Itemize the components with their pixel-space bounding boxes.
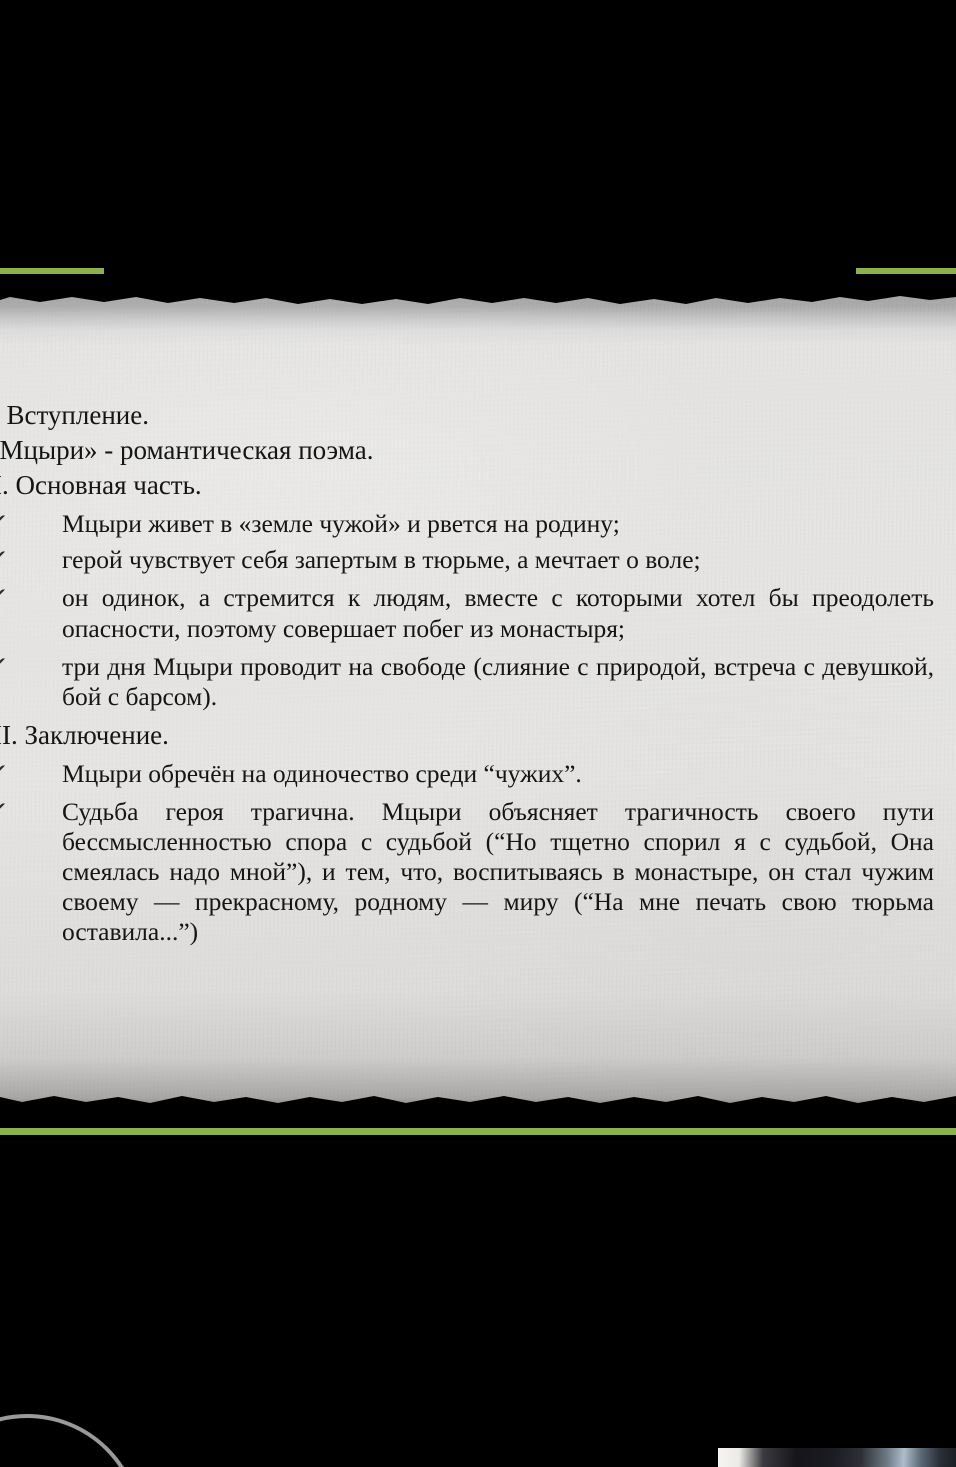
checkmark-icon: ✓ (0, 584, 10, 611)
outline-section-3: III. Заключение. (0, 718, 944, 753)
list-item: ✓ Судьба героя трагична. Мцыри объясняет… (0, 797, 944, 947)
list-item-label: он одинок, а стремится к людям, вместе с… (62, 583, 934, 642)
list-item: ✓ он одинок, а стремится к людям, вместе… (0, 583, 944, 643)
outline-section-1: I. Вступление. (0, 398, 944, 433)
list-item: ✓ три дня Мцыри проводит на свободе (сли… (0, 652, 944, 712)
list-item-label: Мцыри обречён на одиночество среди “чужи… (62, 759, 582, 788)
outline-section-2: II. Основная часть. (0, 468, 944, 503)
list-item: ✓ герой чувствует себя запертым в тюрьме… (0, 545, 944, 575)
presentation-slide: I. Вступление. «Мцыри» - романтическая п… (0, 0, 956, 1467)
checkmark-icon: ✓ (0, 653, 10, 680)
checkmark-icon: ✓ (0, 798, 10, 825)
outline-section-1-note: «Мцыри» - романтическая поэма. (0, 433, 944, 468)
accent-rule-top-left (0, 268, 104, 274)
list-item: ✓ Мцыри живет в «земле чужой» и рвется н… (0, 509, 944, 539)
list-item-label: герой чувствует себя запертым в тюрьме, … (62, 545, 701, 574)
decorative-ring (0, 1414, 142, 1467)
photo-thumbnail-sliver (718, 1448, 956, 1467)
checkmark-icon: ✓ (0, 546, 10, 573)
slide-content: I. Вступление. «Мцыри» - романтическая п… (0, 372, 956, 947)
outline-section-2-points: ✓ Мцыри живет в «земле чужой» и рвется н… (0, 509, 944, 711)
accent-rule-bottom (0, 1128, 956, 1135)
accent-rule-top-right (856, 268, 956, 274)
list-item-label: Судьба героя трагична. Мцыри объясняет т… (62, 797, 934, 946)
checkmark-icon: ✓ (0, 760, 10, 787)
checkmark-icon: ✓ (0, 510, 10, 537)
list-item: ✓ Мцыри обречён на одиночество среди “чу… (0, 759, 944, 789)
list-item-label: три дня Мцыри проводит на свободе (слиян… (62, 652, 934, 711)
list-item-label: Мцыри живет в «земле чужой» и рвется на … (62, 509, 620, 538)
outline-section-3-points: ✓ Мцыри обречён на одиночество среди “чу… (0, 759, 944, 947)
